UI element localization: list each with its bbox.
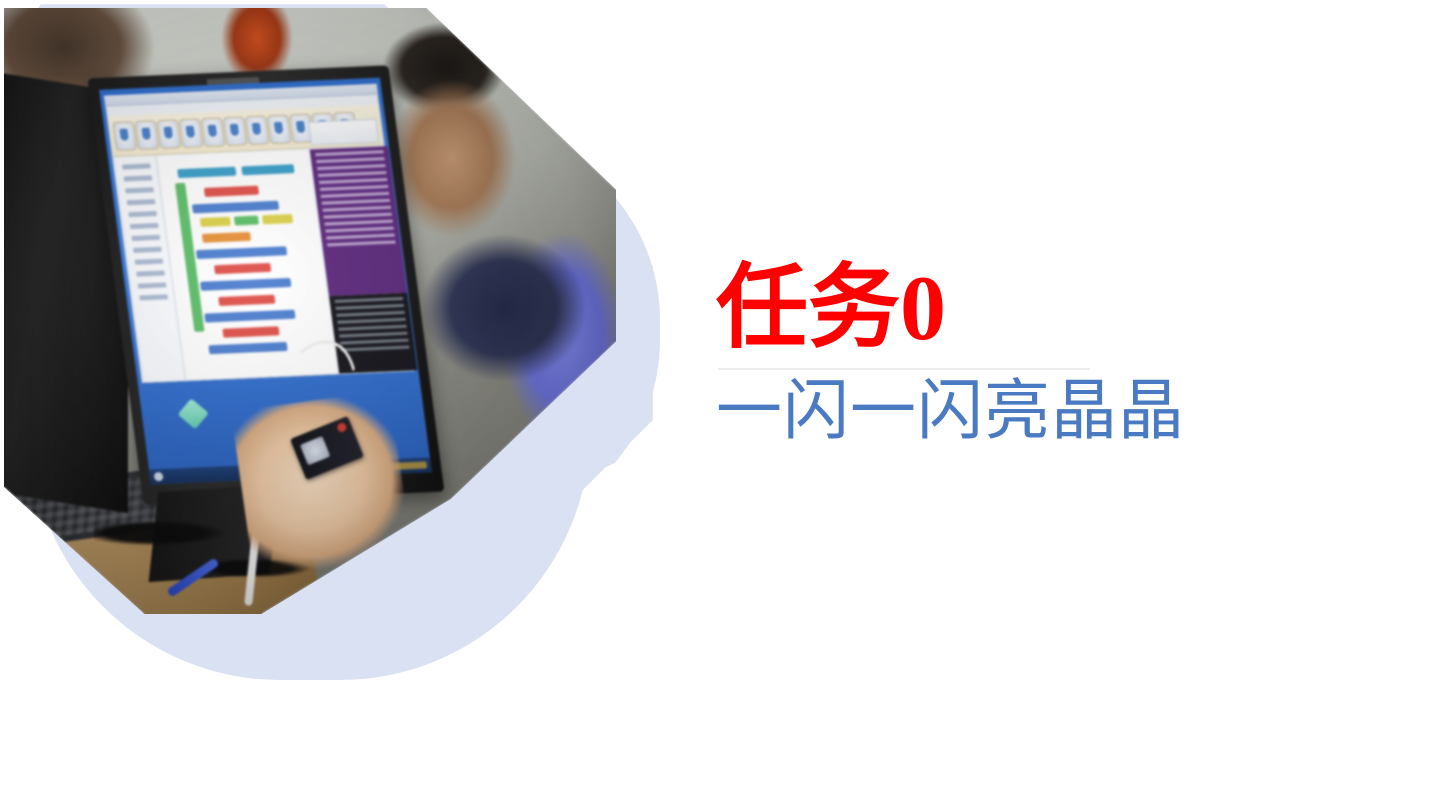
code-preview-panel [310, 146, 408, 296]
code-block [241, 164, 294, 175]
toolbar-icon [201, 117, 226, 147]
page-title: 任务0 [716, 262, 1316, 354]
code-block [202, 232, 251, 243]
code-block [208, 342, 287, 354]
toolbar-icon [134, 120, 159, 150]
toolbar-icon [157, 119, 182, 149]
title-group: 任务0 一闪一闪亮晶晶 [716, 262, 1316, 449]
slide-canvas: 任务0 一闪一闪亮晶晶 [0, 0, 1440, 810]
toolbar-action-buttons [308, 119, 379, 146]
code-block [234, 216, 259, 226]
code-block [200, 217, 231, 227]
toolbar-icon [245, 115, 270, 145]
code-block [222, 326, 279, 337]
photo-group [0, 0, 680, 700]
code-block [196, 246, 287, 259]
toolbar-icon [223, 116, 248, 146]
toolbar-icon [267, 115, 292, 145]
code-block [200, 278, 291, 291]
code-block [177, 167, 236, 178]
desktop-icon [178, 398, 209, 429]
title-divider [718, 368, 1090, 370]
code-block [218, 295, 275, 306]
toolbar-icon [179, 118, 204, 148]
code-block [204, 186, 259, 197]
coding-app-window [105, 94, 414, 384]
code-block [214, 263, 271, 274]
page-subtitle: 一闪一闪亮晶晶 [716, 376, 1316, 449]
code-block [204, 310, 295, 323]
toolbar-icon [112, 121, 137, 151]
code-block [192, 201, 279, 214]
code-block [262, 214, 293, 224]
